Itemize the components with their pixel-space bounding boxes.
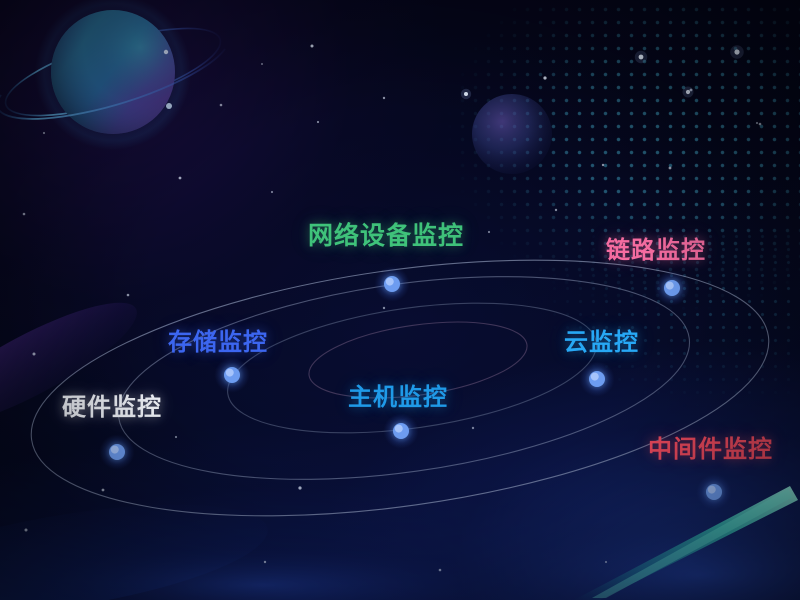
orbit-node-storage[interactable]	[214, 357, 249, 392]
node-highlight	[591, 373, 599, 381]
orbit-node-hardware[interactable]	[99, 434, 134, 469]
space-infographic-canvas: 网络设备监控链路监控存储监控云监控主机监控硬件监控中间件监控	[0, 0, 800, 600]
category-label-network-device[interactable]: 网络设备监控	[308, 224, 464, 249]
orbit-node-link[interactable]	[654, 270, 689, 305]
node-highlight	[708, 486, 716, 494]
node-highlight	[386, 278, 394, 286]
category-label-link[interactable]: 链路监控	[606, 239, 706, 263]
orbit-node-middleware[interactable]	[696, 474, 731, 509]
category-label-storage[interactable]: 存储监控	[168, 331, 268, 355]
orbit-nodes-layer	[0, 0, 800, 600]
node-highlight	[111, 446, 119, 454]
category-label-cloud[interactable]: 云监控	[564, 331, 639, 355]
node-highlight	[666, 282, 674, 290]
orbit-node-host[interactable]	[383, 413, 418, 448]
category-label-host[interactable]: 主机监控	[348, 386, 448, 410]
category-label-hardware[interactable]: 硬件监控	[62, 396, 162, 420]
category-label-middleware[interactable]: 中间件监控	[648, 438, 773, 462]
orbit-node-network-device[interactable]	[374, 266, 409, 301]
node-highlight	[226, 369, 234, 377]
node-highlight	[395, 425, 403, 433]
orbit-node-cloud[interactable]	[579, 361, 614, 396]
